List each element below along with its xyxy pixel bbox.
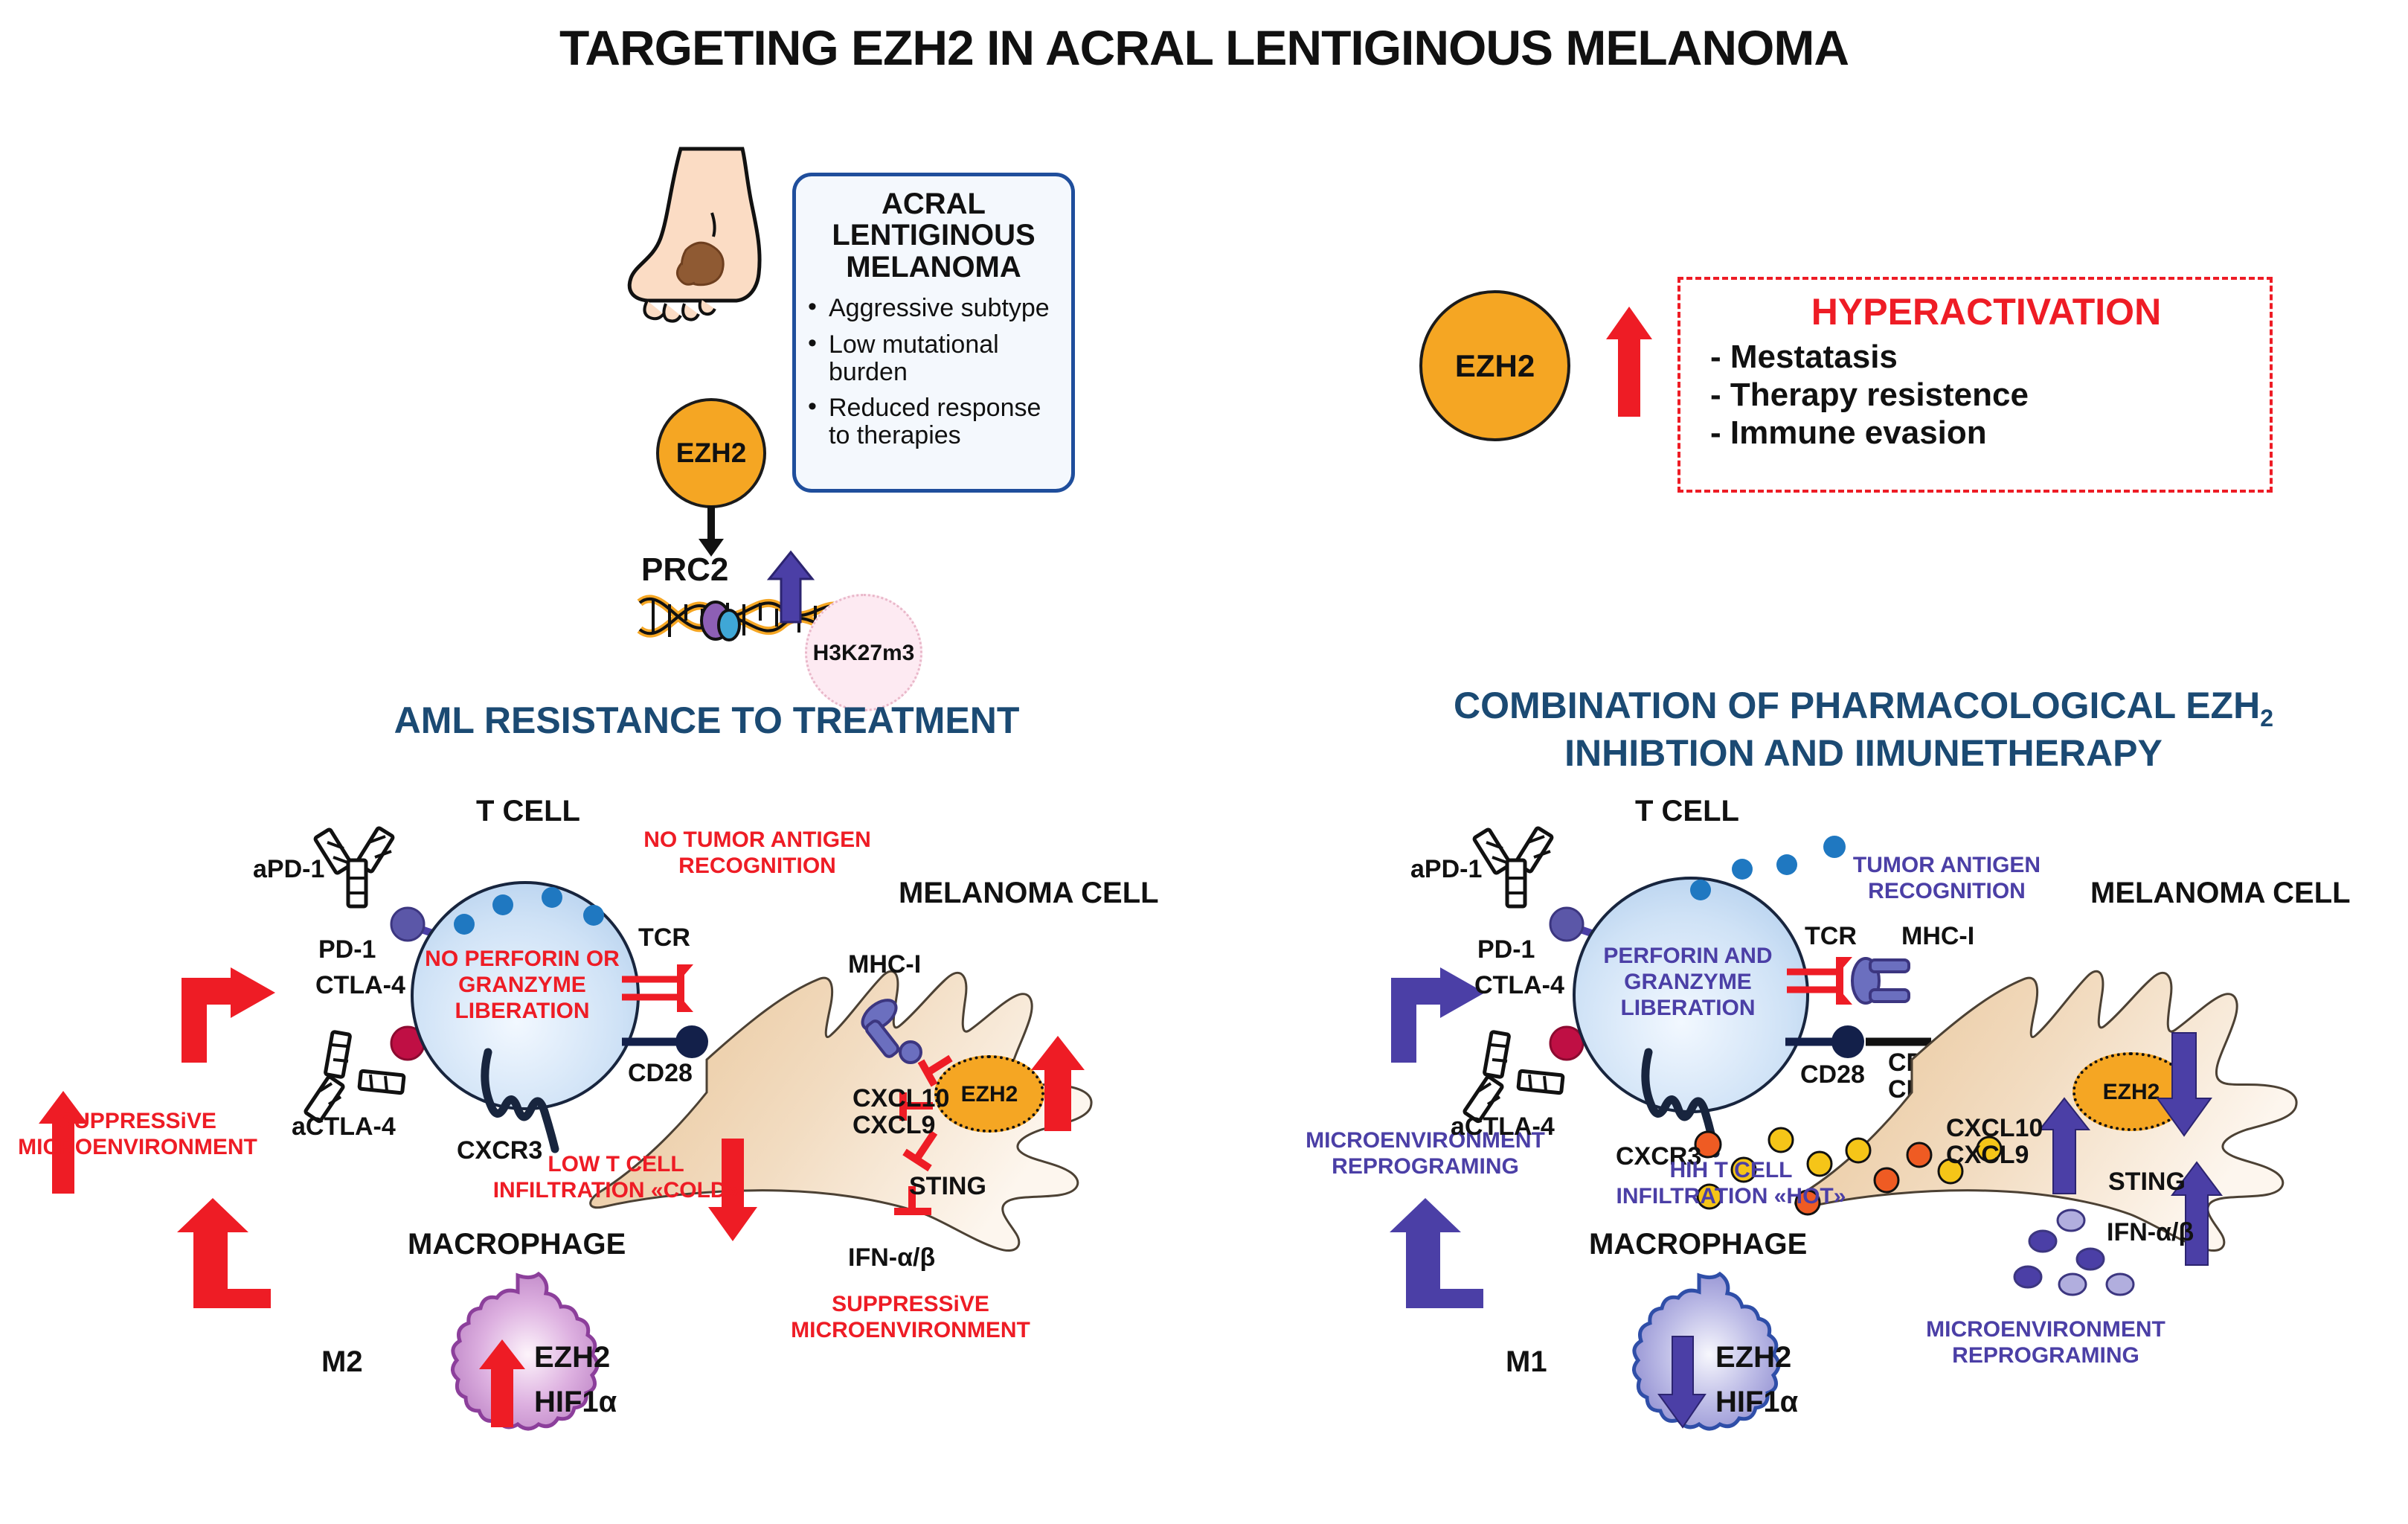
elbow-arrow-icon-red-bottom bbox=[170, 1198, 274, 1310]
acral-lentiginous-melanoma-box: ACRAL LENTIGINOUS MELANOMA Aggressive su… bbox=[792, 173, 1075, 493]
list-item: - Mestatasis bbox=[1710, 338, 2262, 376]
pd1-label-right: PD-1 bbox=[1477, 936, 1535, 964]
sting-label-left: STING bbox=[909, 1173, 986, 1200]
left-melanoma-title: MELANOMA CELL bbox=[899, 877, 1159, 909]
ezh2-label: EZH2 bbox=[2103, 1080, 2160, 1104]
ctla4-label-right: CTLA-4 bbox=[1474, 972, 1564, 999]
prc2-label: PRC2 bbox=[641, 552, 728, 588]
list-item: - Immune evasion bbox=[1710, 414, 2262, 452]
alm-bullet-list: Aggressive subtype Low mutational burden… bbox=[796, 295, 1071, 449]
ifn-dots-right bbox=[2009, 1206, 2142, 1302]
hyperactivation-box: HYPERACTIVATION - Mestatasis - Therapy r… bbox=[1677, 277, 2273, 493]
alm-box-title: ACRAL LENTIGINOUS MELANOMA bbox=[796, 176, 1071, 283]
pd1-label: PD-1 bbox=[318, 936, 376, 964]
apd1-label-right: aPD-1 bbox=[1410, 856, 1482, 883]
actla4-label: aCTLA-4 bbox=[292, 1113, 396, 1141]
right-tcell-title: T CELL bbox=[1635, 795, 1739, 827]
ctla4-label: CTLA-4 bbox=[315, 972, 405, 999]
apd1-label: aPD-1 bbox=[253, 856, 324, 883]
cxcl-label-right: CXCL10 CXCL9 bbox=[1946, 1115, 2043, 1168]
elbow-arrow-icon-purple-bottom bbox=[1382, 1198, 1486, 1310]
hyperactivation-title: HYPERACTIVATION bbox=[1710, 290, 2262, 333]
m1-hif1a-label: HIF1α bbox=[1715, 1386, 1798, 1418]
left-suppressive-microenvironment: SUPPRESSiVE MICROENVIRONMENT bbox=[15, 1109, 260, 1161]
no-tumor-antigen-recognition-label: NO TUMOR ANTIGEN RECOGNITION bbox=[623, 827, 891, 880]
list-item: Aggressive subtype bbox=[829, 295, 1062, 322]
ezh2-label: EZH2 bbox=[676, 438, 747, 469]
right-melanoma-title: MELANOMA CELL bbox=[2090, 877, 2351, 909]
up-arrow-icon-purple bbox=[766, 552, 815, 624]
actla4-label-right: aCTLA-4 bbox=[1451, 1113, 1555, 1141]
ifn-label-left: IFN-α/β bbox=[848, 1244, 935, 1272]
list-item: - Therapy resistence bbox=[1710, 376, 2262, 414]
low-t-cell-infiltration-label: LOW T CELL INFILTRATION «COLD» bbox=[460, 1152, 772, 1204]
down-arrow-icon-purple-ezh2 bbox=[2153, 1033, 2215, 1137]
up-arrow-icon-red bbox=[1603, 307, 1655, 418]
ezh2-label: EZH2 bbox=[1455, 348, 1535, 384]
tumor-antigen-recognition-label: TUMOR ANTIGEN RECOGNITION bbox=[1824, 853, 2070, 905]
up-arrow-icon-purple-cxcl bbox=[2037, 1098, 2092, 1195]
m2-ezh2-label: EZH2 bbox=[534, 1341, 610, 1374]
m2-hif1a-label: HIF1α bbox=[534, 1386, 617, 1418]
foot-illustration bbox=[625, 146, 803, 377]
down-arrow-icon-purple-m1 bbox=[1656, 1336, 1708, 1429]
list-item: Reduced response to therapies bbox=[829, 394, 1062, 449]
m2-label: M2 bbox=[321, 1345, 363, 1378]
cxcl-label-left: CXCL10 CXCL9 bbox=[853, 1085, 949, 1139]
list-item: Low mutational burden bbox=[829, 331, 1062, 385]
elbow-arrow-icon-red-top bbox=[176, 967, 280, 1064]
h3k27m3-label: H3K27m3 bbox=[813, 641, 915, 665]
ezh2-node-topright: EZH2 bbox=[1419, 290, 1570, 441]
left-tcell-title: T CELL bbox=[476, 795, 580, 827]
right-section-title: COMBINATION OF PHARMACOLOGICAL EZH2 INHI… bbox=[1380, 685, 2347, 774]
m1-ezh2-label: EZH2 bbox=[1715, 1341, 1791, 1374]
right-macrophage-title: MACROPHAGE bbox=[1589, 1228, 1807, 1261]
page-title: TARGETING EZH2 IN ACRAL LENTIGINOUS MELA… bbox=[0, 19, 2408, 76]
ezh2-node-topleft: EZH2 bbox=[656, 398, 766, 508]
right-microenvironment-reprograming-right: MICROENVIRONMENT REPROGRAMING bbox=[1904, 1317, 2187, 1369]
h3k27m3-node: H3K27m3 bbox=[805, 594, 922, 711]
apd1-antibody-icon bbox=[320, 826, 409, 915]
left-section-title: AML RESISTANCE TO TREATMENT bbox=[312, 699, 1101, 741]
sting-label-right: STING bbox=[2108, 1168, 2186, 1196]
hih-t-cell-infiltration-label: HIH T CELL INFILTRATION «HOT» bbox=[1579, 1158, 1884, 1210]
mhc1-label-left: MHC-I bbox=[848, 951, 921, 979]
left-macrophage-title: MACROPHAGE bbox=[408, 1228, 626, 1261]
up-arrow-icon-red-m2 bbox=[476, 1339, 528, 1429]
left-suppressive-microenvironment-mid: SUPPRESSiVE MICROENVIRONMENT bbox=[784, 1292, 1037, 1344]
m1-label: M1 bbox=[1506, 1345, 1547, 1378]
